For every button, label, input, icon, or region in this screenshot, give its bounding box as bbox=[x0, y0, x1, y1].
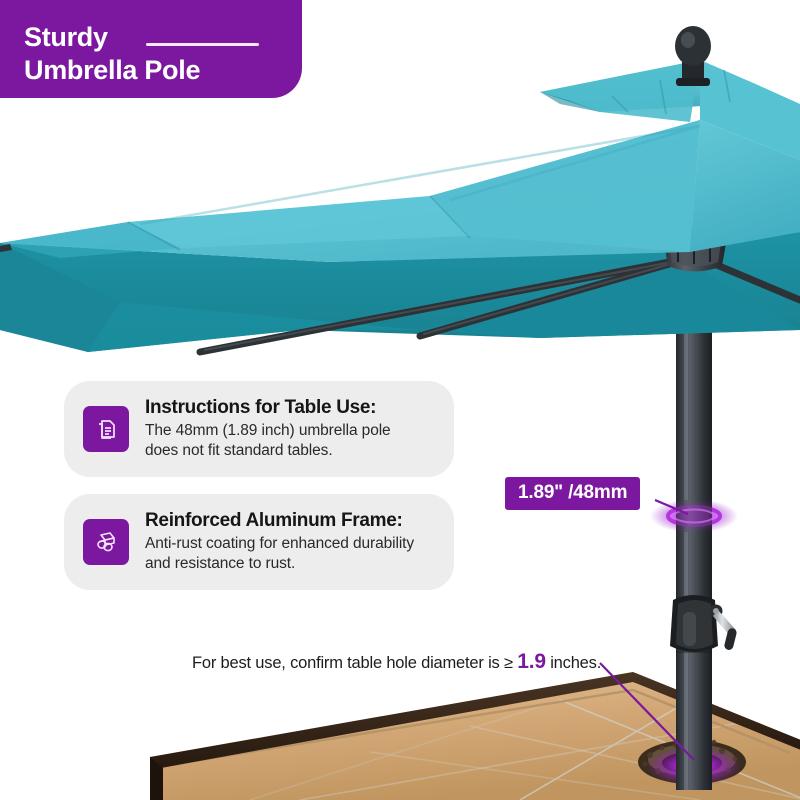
feature-body-line1: The 48mm (1.89 inch) umbrella pole bbox=[145, 422, 391, 439]
aluminum-tubes-icon bbox=[83, 519, 129, 565]
documents-icon bbox=[83, 406, 129, 452]
banner-divider bbox=[146, 43, 259, 46]
feature-card-text: Reinforced Aluminum Frame: Anti-rust coa… bbox=[145, 510, 414, 574]
table-hole-note: For best use, confirm table hole diamete… bbox=[192, 650, 601, 674]
pole-diameter-badge: 1.89" /48mm bbox=[505, 477, 640, 510]
umbrella-canopy-top bbox=[0, 120, 800, 262]
feature-body-line1: Anti-rust coating for enhanced durabilit… bbox=[145, 535, 414, 552]
note-prefix: For best use, confirm table hole diamete… bbox=[192, 654, 517, 672]
feature-card-text: Instructions for Table Use: The 48mm (1.… bbox=[145, 397, 391, 461]
feature-body-line2: does not fit standard tables. bbox=[145, 442, 333, 459]
header-banner: Sturdy Umbrella Pole bbox=[0, 0, 302, 98]
banner-title-line2: Umbrella Pole bbox=[24, 55, 200, 86]
note-value: 1.9 bbox=[517, 650, 546, 673]
feature-body-line2: and resistance to rust. bbox=[145, 555, 295, 572]
feature-card-title: Reinforced Aluminum Frame: bbox=[145, 510, 414, 532]
feature-card-body: The 48mm (1.89 inch) umbrella pole does … bbox=[145, 421, 391, 461]
banner-title-line1: Sturdy bbox=[24, 22, 108, 53]
feature-card-body: Anti-rust coating for enhanced durabilit… bbox=[145, 534, 414, 574]
feature-card-aluminum-frame: Reinforced Aluminum Frame: Anti-rust coa… bbox=[64, 494, 454, 590]
note-suffix: inches. bbox=[546, 654, 601, 672]
feature-card-title: Instructions for Table Use: bbox=[145, 397, 391, 419]
feature-card-instructions: Instructions for Table Use: The 48mm (1.… bbox=[64, 381, 454, 477]
infographic-canvas: Sturdy Umbrella Pole Instructions for Ta… bbox=[0, 0, 800, 800]
crank-mechanism bbox=[670, 595, 738, 652]
